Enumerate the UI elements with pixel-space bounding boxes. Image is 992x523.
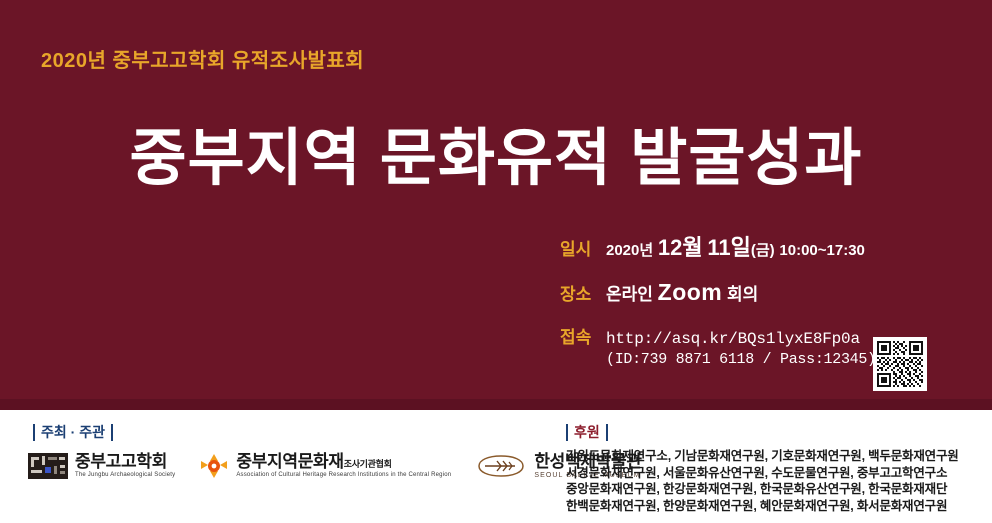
detail-row-date: 일시 2020년 12월 11일(금) 10:00~17:30	[560, 230, 880, 262]
sponsor-section: 후원	[566, 424, 608, 442]
logo-name-korean: 중부지역문화재조사기관협회	[236, 453, 451, 471]
sponsor-list: 강원도문화재연구소, 기남문화재연구원, 기호문화재연구원, 백두문화재연구원 …	[566, 448, 959, 514]
date-time: 10:00~17:30	[779, 242, 865, 259]
sponsor-line: 한백문화재연구원, 한양문화재연구원, 혜안문화재연구원, 화서문화재연구원	[566, 498, 959, 515]
sponsor-heading: 후원	[566, 424, 608, 441]
jungbu-society-emblem-icon	[28, 453, 68, 479]
date-year: 2020년	[606, 242, 653, 259]
date-month: 12월	[658, 235, 703, 260]
logo-name-english: The Jungbu Archaeological Society	[75, 472, 175, 478]
conference-poster: 2020년 중부고고학회 유적조사발표회 중부지역 문화유적 발굴성과 일시 2…	[0, 0, 992, 523]
detail-row-venue: 장소 온라인 Zoom 회의	[560, 279, 880, 306]
logo-central-region-association: 중부지역문화재조사기관협회 Association of Cultural He…	[199, 452, 451, 480]
logo-name-english: Association of Cultural Heritage Researc…	[236, 472, 451, 478]
venue-suffix: 회의	[727, 285, 758, 304]
logo-name-suffix: 조사기관협회	[344, 459, 392, 469]
date-day: 11일	[707, 235, 751, 260]
page-title: 중부지역 문화유적 발굴성과	[0, 107, 992, 197]
access-url[interactable]: http://asq.kr/BQs1lyxE8Fp0a	[606, 330, 860, 348]
venue-platform: Zoom	[658, 279, 723, 305]
hero-bottom-band	[0, 399, 992, 410]
qr-code-icon	[877, 341, 923, 387]
host-section: 주최 · 주관	[33, 424, 113, 442]
host-heading: 주최 · 주관	[33, 424, 113, 441]
date-value: 2020년 12월 11일(금) 10:00~17:30	[606, 230, 865, 262]
event-kicker: 2020년 중부고고학회 유적조사발표회	[41, 44, 364, 73]
venue-value: 온라인 Zoom 회의	[606, 279, 758, 306]
access-label: 접속	[560, 323, 606, 348]
detail-row-access: 접속 http://asq.kr/BQs1lyxE8Fp0a	[560, 323, 880, 348]
date-label: 일시	[560, 235, 606, 260]
logo-text-block: 중부지역문화재조사기관협회 Association of Cultural He…	[236, 453, 451, 478]
venue-prefix: 온라인	[606, 285, 653, 304]
event-details: 일시 2020년 12월 11일(금) 10:00~17:30 장소 온라인 Z…	[560, 230, 880, 368]
logo-text-block: 중부고고학회 The Jungbu Archaeological Society	[75, 453, 175, 478]
logo-jungbu-archaeological-society: 중부고고학회 The Jungbu Archaeological Society	[28, 453, 175, 479]
date-weekday: (금)	[751, 242, 775, 259]
organizer-logos: 중부고고학회 The Jungbu Archaeological Society…	[28, 452, 642, 480]
sponsor-line: 중앙문화재연구원, 한강문화재연구원, 한국문화유산연구원, 한국문화재재단	[566, 481, 959, 498]
sponsor-line: 서경문화재연구원, 서울문화유산연구원, 수도문물연구원, 중부고고학연구소	[566, 465, 959, 482]
sponsor-line: 강원도문화재연구소, 기남문화재연구원, 기호문화재연구원, 백두문화재연구원	[566, 448, 959, 465]
qr-code[interactable]	[873, 337, 927, 391]
logo-name-korean: 중부고고학회	[75, 453, 175, 471]
venue-label: 장소	[560, 280, 606, 305]
access-credentials: (ID:739 8871 6118 / Pass:12345)	[606, 351, 880, 368]
museum-emblem-icon	[475, 453, 527, 479]
association-emblem-icon	[199, 452, 229, 480]
